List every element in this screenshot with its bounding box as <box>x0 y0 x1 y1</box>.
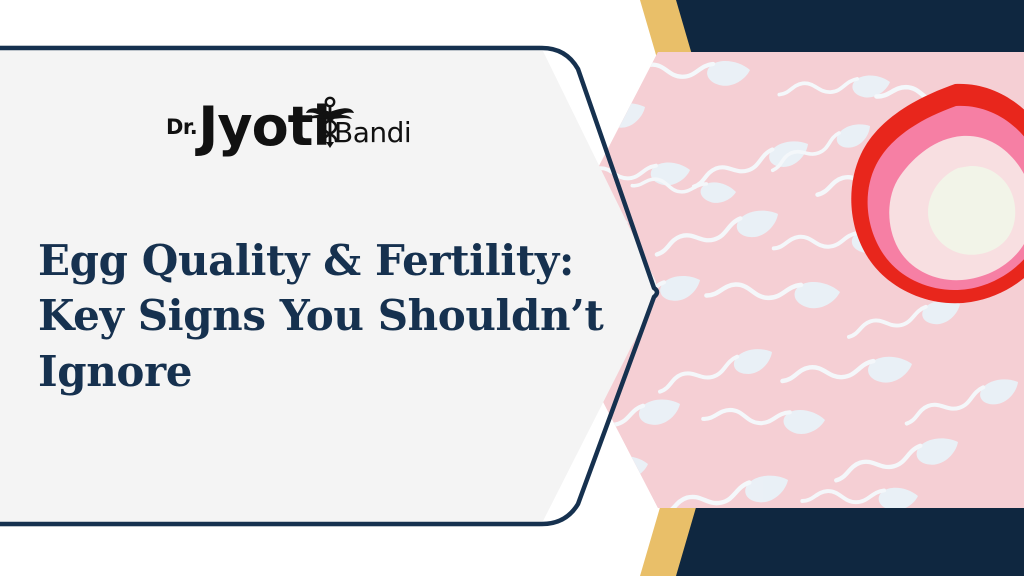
caduceus-icon <box>305 96 355 148</box>
headline-line-1: Egg Quality & Fertility: <box>38 233 618 288</box>
headline-line-3: Ignore <box>38 344 618 399</box>
page-title: Egg Quality & Fertility: Key Signs You S… <box>38 233 618 399</box>
headline-line-2: Key Signs You Shouldn’t <box>38 288 618 343</box>
logo-prefix: Dr. <box>166 117 197 154</box>
brand-logo[interactable]: Dr. Jyoti Bandi <box>166 100 411 154</box>
fertility-blog-banner: Dr. Jyoti Bandi Egg Quality & Fertility:… <box>0 0 1024 576</box>
ovum-illustration <box>840 80 1024 310</box>
